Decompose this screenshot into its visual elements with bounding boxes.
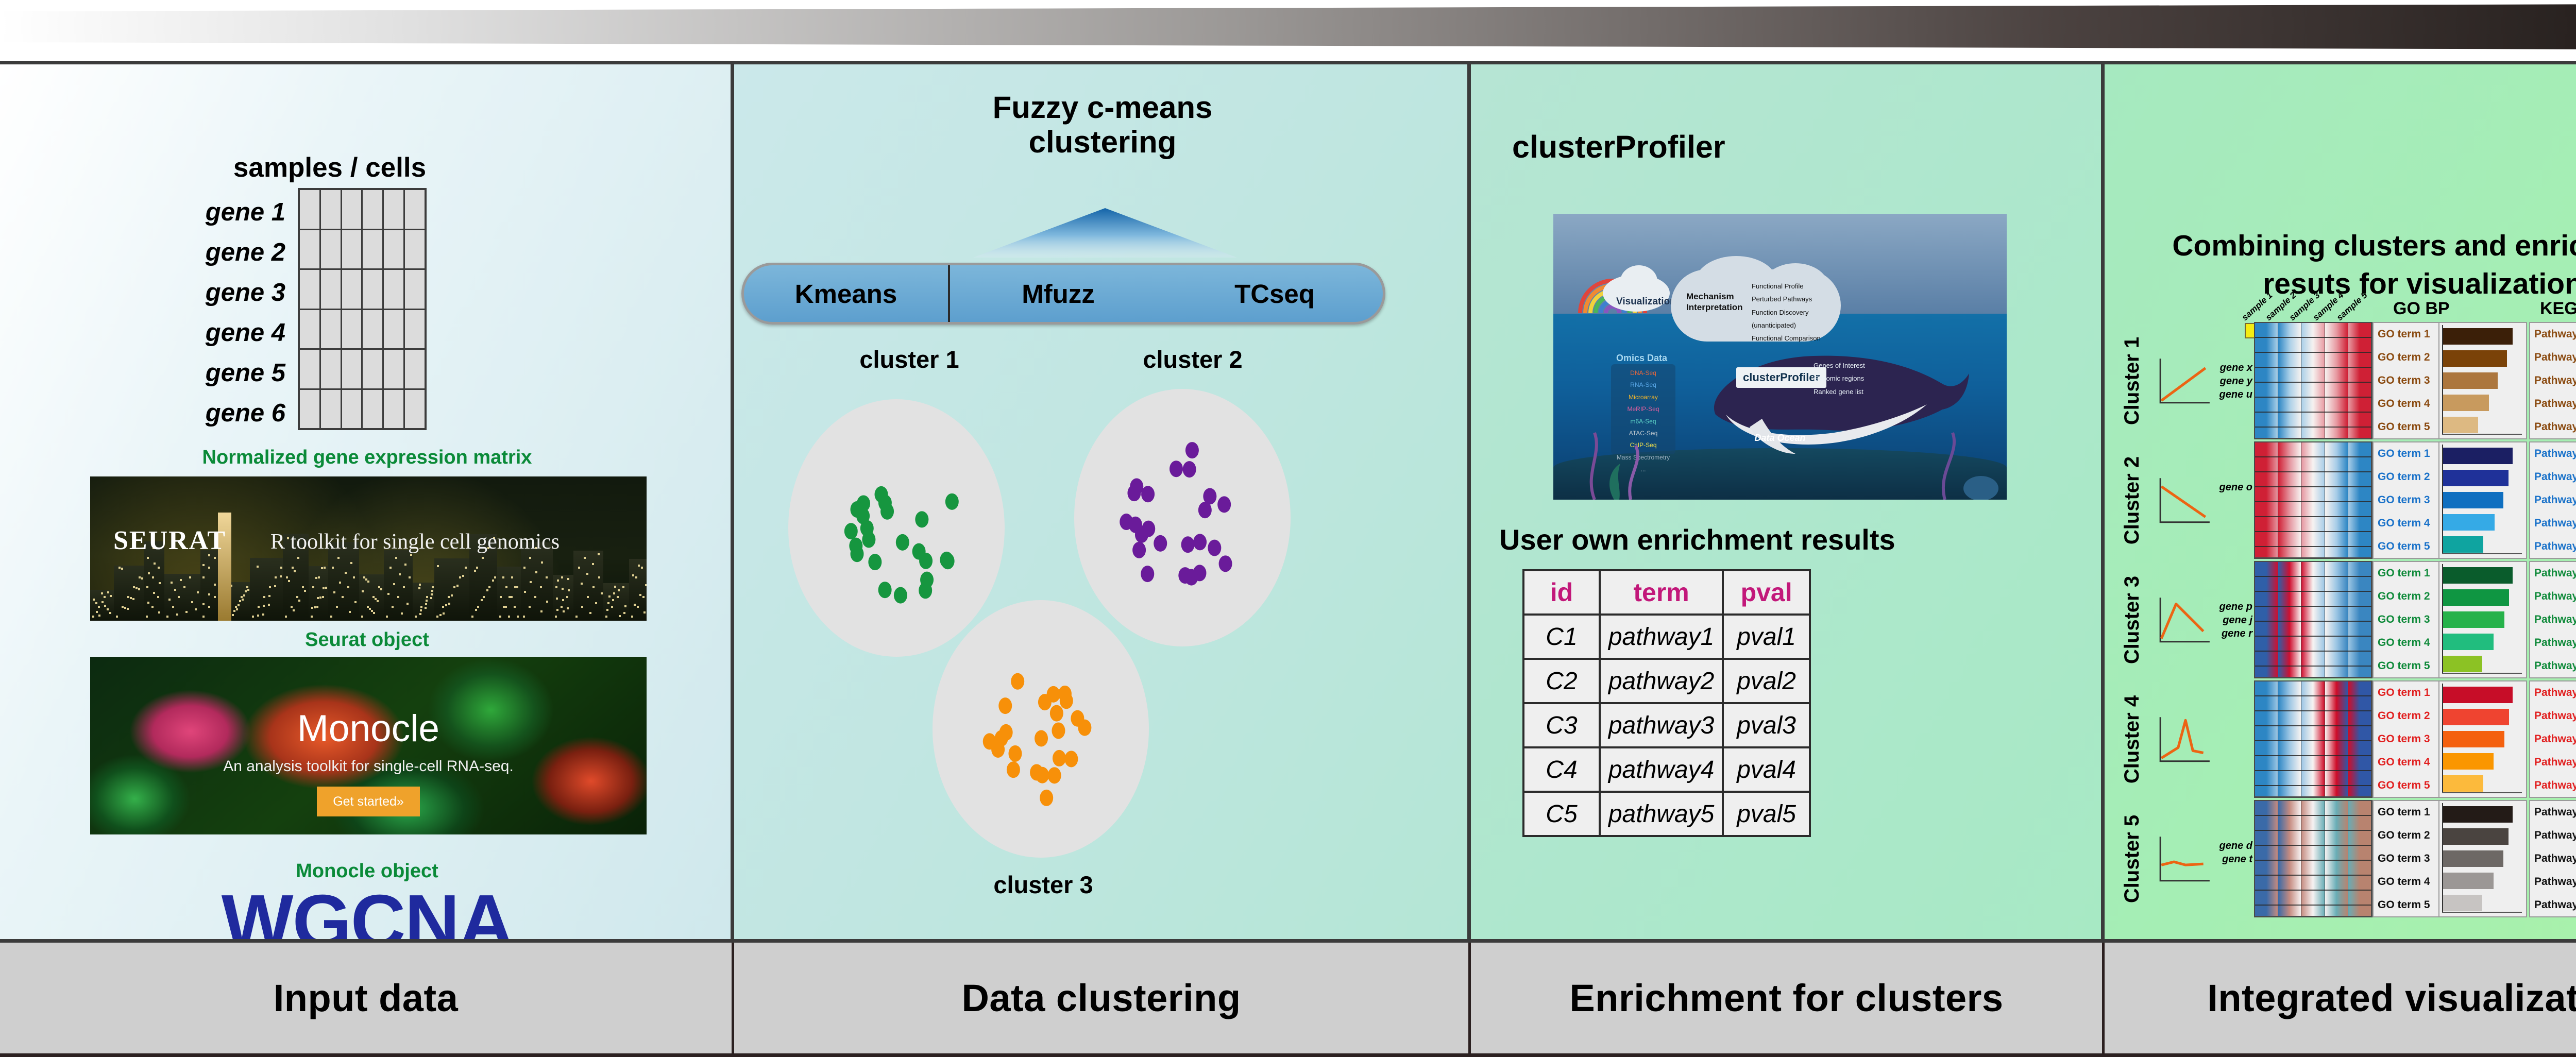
gobp-bar [2443, 656, 2482, 672]
building-light [534, 596, 536, 598]
building-light [208, 567, 210, 569]
clusterprofiler-badge: clusterProfiler [1736, 367, 1826, 388]
visualization-cloud-top [1620, 265, 1657, 297]
heatmap-column [2348, 562, 2371, 677]
building-light [157, 596, 159, 598]
cell-id: C2 [1523, 659, 1600, 703]
cluster-trend-sparkline [2151, 800, 2217, 917]
caption-seurat-object: Seurat object [0, 629, 734, 651]
cluster-row: Cluster 1gene xgene ygene uGO term 1GO t… [2114, 322, 2576, 439]
building-light [101, 601, 104, 603]
building-light [118, 567, 121, 569]
building-light [252, 616, 254, 618]
building-light [286, 576, 288, 578]
building-light [154, 562, 156, 565]
building-light [511, 576, 513, 578]
building-light [557, 579, 559, 582]
building-light [581, 583, 583, 585]
building-light [595, 602, 597, 604]
heatmap-column [2301, 801, 2325, 916]
gobp-bar [2443, 828, 2509, 845]
skyline-building [434, 558, 469, 621]
building-light [153, 592, 155, 594]
building-light [601, 592, 603, 594]
matrix-cell [342, 230, 362, 269]
building-light [523, 616, 525, 618]
building-light [294, 570, 296, 572]
building-light [562, 599, 564, 601]
building-light [477, 606, 479, 608]
building-light [172, 606, 174, 608]
panel-integrated-visualization: Combining clusters and enrichment resuts… [2105, 64, 2576, 939]
gobp-bar [2443, 589, 2509, 606]
building-light [430, 597, 432, 599]
building-light [589, 612, 591, 614]
building-light [409, 576, 411, 578]
gene-row-label: gene 3 [155, 272, 293, 313]
cell-id: C3 [1523, 703, 1600, 747]
gobp-bar [2443, 567, 2513, 584]
building-light [274, 585, 276, 587]
cell-pval: pval1 [1723, 615, 1810, 659]
cluster-row: Cluster 4GO term 1GO term 2GO term 3GO t… [2114, 680, 2576, 798]
matrix-cell [300, 190, 319, 229]
building-light [404, 564, 406, 566]
building-light [233, 610, 235, 612]
matrix-cell [321, 190, 341, 229]
building-light [317, 597, 319, 599]
building-light [637, 606, 639, 608]
pathway-label: Pathway 2 [2534, 590, 2576, 603]
gene-row-label: gene 2 [155, 232, 293, 272]
building-light [342, 596, 344, 598]
building-light [127, 608, 129, 610]
workflow-direction-arrow [0, 0, 2576, 61]
building-light [297, 557, 299, 559]
building-light [330, 616, 332, 618]
building-light [643, 611, 646, 613]
building-light [592, 563, 594, 565]
matrix-cell [405, 390, 425, 429]
building-light [456, 585, 459, 587]
gobp-bar [2443, 634, 2494, 650]
building-light [168, 599, 171, 601]
building-light [258, 606, 260, 608]
gobp-bar [2443, 687, 2513, 703]
building-light [459, 576, 461, 578]
building-light [116, 616, 118, 618]
panel-input-data: samples / cells gene 1 gene 2 gene 3 gen… [0, 64, 734, 939]
gobp-bar [2443, 753, 2494, 770]
algorithm-kmeans[interactable]: Kmeans [744, 265, 950, 322]
building-light [232, 614, 234, 616]
building-light [392, 606, 394, 608]
building-light [567, 607, 569, 609]
gobp-panel: GO term 1GO term 2GO term 3GO term 4GO t… [2372, 800, 2527, 917]
building-light [208, 606, 210, 608]
building-light [439, 614, 442, 616]
building-light [606, 609, 608, 611]
pathway-label: Pathway 2 [2534, 710, 2576, 722]
building-light [189, 576, 191, 578]
building-light [148, 572, 150, 574]
matrix-cell [321, 310, 341, 349]
matrix-cell [363, 310, 382, 349]
building-light [130, 597, 132, 599]
go-term-label: GO term 3 [2378, 494, 2438, 506]
building-light [505, 606, 507, 608]
building-light [241, 596, 243, 598]
heatmap-column [2255, 801, 2278, 916]
building-light [202, 616, 205, 618]
building-light [581, 606, 583, 608]
building-light [420, 606, 422, 608]
building-light [98, 606, 100, 608]
building-light [399, 573, 401, 575]
cluster-gene-labels: gene pgene jgene r [2217, 561, 2254, 678]
cell-pval: pval3 [1723, 703, 1810, 747]
building-light [337, 557, 340, 559]
go-term-label: GO term 5 [2378, 899, 2438, 911]
building-light [617, 596, 619, 598]
skyline-building [309, 566, 328, 621]
building-light [451, 594, 453, 596]
go-term-label: GO term 4 [2378, 756, 2438, 769]
matrix-cell [405, 350, 425, 388]
building-light [350, 562, 352, 564]
building-light [443, 612, 445, 615]
building-light [314, 606, 316, 608]
heatmap-column [2301, 323, 2325, 438]
pathway-label: Pathway 5 [2534, 540, 2576, 553]
building-light [540, 610, 543, 612]
omics-data-label: Omics Data [1616, 353, 1667, 364]
matrix-cell [342, 190, 362, 229]
gobp-bar [2443, 328, 2513, 345]
building-light [608, 595, 611, 598]
pathway-label: Pathway 3 [2534, 613, 2576, 626]
heatmap-column [2348, 323, 2371, 438]
building-light [514, 606, 516, 608]
table-header-row: id term pval [1523, 570, 1810, 615]
cell-term: pathway5 [1600, 792, 1723, 836]
building-light [530, 581, 532, 583]
get-started-button[interactable]: Get started» [317, 787, 420, 816]
building-light [442, 606, 444, 608]
cluster-trend-sparkline [2151, 441, 2217, 559]
building-light [426, 600, 428, 602]
building-light [292, 567, 294, 569]
go-term-label: GO term 4 [2378, 398, 2438, 410]
cluster-trend-sparkline [2151, 561, 2217, 678]
gene-label: gene o [2219, 482, 2252, 493]
building-light [546, 601, 548, 603]
cluster-gene-labels: gene xgene ygene u [2217, 322, 2254, 439]
matrix-cell [321, 390, 341, 429]
building-light [555, 616, 557, 618]
algorithm-tcseq[interactable]: TCseq [1166, 279, 1383, 309]
user-enrichment-title: User own enrichment results [1499, 523, 1895, 556]
building-light [151, 606, 154, 608]
building-light [296, 596, 298, 598]
building-light [247, 589, 249, 591]
building-light [158, 567, 160, 569]
heatmap-column [2278, 801, 2301, 916]
seurat-banner-image: SEURAT R toolkit for single cell genomic… [90, 476, 647, 621]
building-light [511, 596, 513, 598]
matrix-cell [384, 390, 403, 429]
gene-row-label: gene 4 [155, 313, 293, 353]
gobp-term-labels: GO term 1GO term 2GO term 3GO term 4GO t… [2374, 681, 2439, 797]
building-light [562, 588, 564, 590]
heatmap-column [2325, 562, 2348, 677]
gobp-bar [2443, 448, 2513, 464]
matrix-cell [405, 270, 425, 309]
building-light [93, 599, 95, 601]
building-light [354, 601, 357, 603]
building-light [176, 613, 178, 616]
matrix-cell [321, 350, 341, 388]
building-light [401, 612, 403, 615]
fuzzy-cmeans-title: Fuzzy c-means clustering [945, 90, 1260, 159]
building-light [509, 596, 511, 598]
kegg-pathway-labels: Pathway 1Pathway 2Pathway 3Pathway 4Path… [2530, 323, 2576, 438]
pathway-label: Pathway 4 [2534, 517, 2576, 530]
building-light [614, 586, 616, 588]
building-light [618, 589, 620, 591]
heatmap-column [2348, 442, 2371, 558]
pathway-label: Pathway 3 [2534, 494, 2576, 506]
building-light [133, 586, 135, 588]
building-light [425, 603, 427, 605]
matrix-cell [405, 190, 425, 229]
building-light [563, 610, 565, 612]
gobp-panel: GO term 1GO term 2GO term 3GO term 4GO t… [2372, 561, 2527, 678]
matrix-cell [405, 230, 425, 269]
monocle-tagline: An analysis toolkit for single-cell RNA-… [90, 758, 647, 775]
building-light [586, 573, 588, 575]
building-light [488, 586, 490, 588]
building-light [174, 589, 176, 591]
heatmap-column [2278, 562, 2301, 677]
go-term-label: GO term 5 [2378, 540, 2438, 553]
clusterprofiler-output-item: Genes of Interest [1814, 359, 1865, 372]
building-light [245, 590, 247, 592]
building-light [575, 616, 578, 618]
kegg-pathway-labels: Pathway 1Pathway 2Pathway 3Pathway 4Path… [2530, 681, 2576, 797]
omics-item: DNA-Seq [1611, 367, 1675, 379]
building-light [243, 594, 245, 596]
algorithm-mfuzz[interactable]: Mfuzz [950, 279, 1166, 309]
matrix-cell [384, 230, 403, 269]
gobp-bar [2443, 372, 2498, 389]
caption-normalized-matrix: Normalized gene expression matrix [0, 447, 734, 469]
building-light [448, 596, 450, 598]
go-term-label: GO term 3 [2378, 853, 2438, 865]
matrix-cell [300, 310, 319, 349]
cluster-name: Cluster 4 [2114, 680, 2151, 798]
building-light [318, 576, 320, 578]
building-light [481, 599, 483, 601]
go-term-label: GO term 5 [2378, 421, 2438, 433]
building-light [389, 567, 392, 569]
building-light [146, 616, 148, 618]
cluster-heatmap [2254, 441, 2372, 559]
skyline-building [497, 567, 521, 621]
building-light [104, 605, 106, 607]
building-light [634, 604, 636, 606]
pathway-label: Pathway 5 [2534, 421, 2576, 433]
building-light [386, 616, 388, 618]
building-light [445, 604, 447, 606]
building-light [561, 606, 563, 608]
heatmap-column [2348, 801, 2371, 916]
panel-enrichment-for-clusters: clusterProfiler Visualization [1471, 64, 2105, 939]
pathway-label: Pathway 2 [2534, 829, 2576, 842]
gobp-bar [2443, 895, 2482, 911]
kegg-panel: Pathway 1Pathway 2Pathway 3Pathway 4Path… [2529, 561, 2576, 678]
building-light [503, 606, 505, 608]
building-light [214, 584, 216, 586]
building-light [121, 568, 123, 570]
pathway-label: Pathway 5 [2534, 779, 2576, 792]
go-term-label: GO term 2 [2378, 710, 2438, 722]
building-light [191, 601, 193, 603]
footer-label-input-data: Input data [0, 943, 734, 1057]
gene-label: gene x [2220, 362, 2252, 374]
heatmap-column [2301, 562, 2325, 677]
cluster-heatmap [2254, 322, 2372, 439]
go-term-label: GO term 1 [2378, 806, 2438, 819]
pathway-label: Pathway 4 [2534, 637, 2576, 649]
building-light [104, 596, 106, 598]
cluster-row: Cluster 2gene oGO term 1GO term 2GO term… [2114, 441, 2576, 559]
building-light [419, 584, 421, 586]
gobp-term-labels: GO term 1GO term 2GO term 3GO term 4GO t… [2374, 801, 2439, 916]
building-light [561, 576, 563, 578]
matrix-cell [363, 270, 382, 309]
go-term-label: GO term 2 [2378, 351, 2438, 364]
building-light [514, 586, 516, 588]
column-header-term: term [1600, 570, 1723, 615]
matrix-cell [384, 190, 403, 229]
building-light [185, 611, 188, 613]
go-term-label: GO term 1 [2378, 328, 2438, 340]
building-light [393, 583, 395, 585]
building-light [598, 553, 600, 555]
building-light [353, 576, 355, 578]
fuzzy-triangle-icon [971, 206, 1239, 263]
skyline-building [164, 574, 200, 621]
building-light [235, 606, 237, 608]
cell-id: C1 [1523, 615, 1600, 659]
building-light [502, 576, 504, 578]
gobp-bar-chart [2439, 323, 2526, 438]
building-light [298, 600, 300, 602]
cell-pval: pval2 [1723, 659, 1810, 703]
pathway-label: Pathway 2 [2534, 351, 2576, 364]
cell-pval: pval4 [1723, 747, 1810, 792]
building-light [214, 596, 216, 598]
building-light [578, 567, 580, 569]
heatmap-column [2325, 442, 2348, 558]
building-light [556, 598, 558, 600]
building-light [311, 607, 313, 609]
building-light [304, 590, 306, 592]
cluster-gene-labels: gene dgene t [2217, 800, 2254, 917]
building-light [152, 576, 154, 578]
gobp-bar [2443, 775, 2483, 792]
building-light [645, 584, 647, 586]
building-light [257, 615, 259, 617]
pathway-label: Pathway 4 [2534, 398, 2576, 410]
building-light [555, 586, 557, 588]
matrix-cell [321, 270, 341, 309]
go-term-label: GO term 3 [2378, 613, 2438, 626]
building-light [293, 609, 295, 611]
building-light [613, 592, 615, 594]
building-light [377, 600, 379, 602]
building-light [171, 582, 173, 584]
building-light [403, 586, 405, 588]
building-light [535, 571, 537, 573]
building-light [420, 609, 422, 611]
building-light [214, 557, 216, 559]
building-light [208, 593, 210, 595]
footer-label-visualization: Integrated visualization [2105, 943, 2576, 1057]
building-light [475, 609, 477, 611]
building-light [367, 581, 369, 583]
clustering-algorithms-bar: Kmeans Mfuzz TCseq [741, 263, 1385, 325]
building-light [124, 607, 126, 609]
skyline-building [413, 583, 434, 621]
seurat-tagline: R toolkit for single cell genomics [270, 530, 560, 554]
gene-row-label: gene 1 [155, 192, 293, 232]
gobp-term-labels: GO term 1GO term 2GO term 3GO term 4GO t… [2374, 323, 2439, 438]
heatmap-column [2255, 323, 2278, 438]
cluster-heatmap [2254, 680, 2372, 798]
gobp-bar [2443, 514, 2495, 531]
building-light [635, 576, 637, 578]
gene-label: gene r [2222, 628, 2252, 640]
table-row: C3pathway3pval3 [1523, 703, 1810, 747]
heatmap-column [2255, 442, 2278, 558]
matrix-cell [363, 190, 382, 229]
building-light [107, 591, 109, 593]
building-light [631, 616, 633, 618]
building-light [505, 586, 507, 588]
cell-term: pathway2 [1600, 659, 1723, 703]
building-light [607, 602, 609, 604]
kegg-panel: Pathway 1Pathway 2Pathway 3Pathway 4Path… [2529, 800, 2576, 917]
workflow-panels: samples / cells gene 1 gene 2 gene 3 gen… [0, 61, 2576, 943]
cell-term: pathway1 [1600, 615, 1723, 659]
building-light [638, 565, 640, 567]
cluster-name: Cluster 5 [2114, 800, 2151, 917]
matrix-cell [300, 230, 319, 269]
building-light [323, 587, 325, 589]
building-light [436, 616, 438, 618]
cluster-gene-labels [2217, 680, 2254, 798]
sample-column-labels: sample 1sample 2sample 3sample 4sample 5 [2245, 291, 2374, 323]
gobp-bar [2443, 611, 2504, 628]
building-light [431, 593, 433, 595]
cluster-heatmap-stage: Cluster 1gene xgene ygene uGO term 1GO t… [2114, 322, 2576, 919]
matrix-cell [300, 350, 319, 388]
gobp-bar-chart [2439, 681, 2526, 797]
enrichment-results-table: id term pval C1pathway1pval1C2pathway2pv… [1522, 569, 1811, 837]
gobp-bar [2443, 470, 2509, 486]
